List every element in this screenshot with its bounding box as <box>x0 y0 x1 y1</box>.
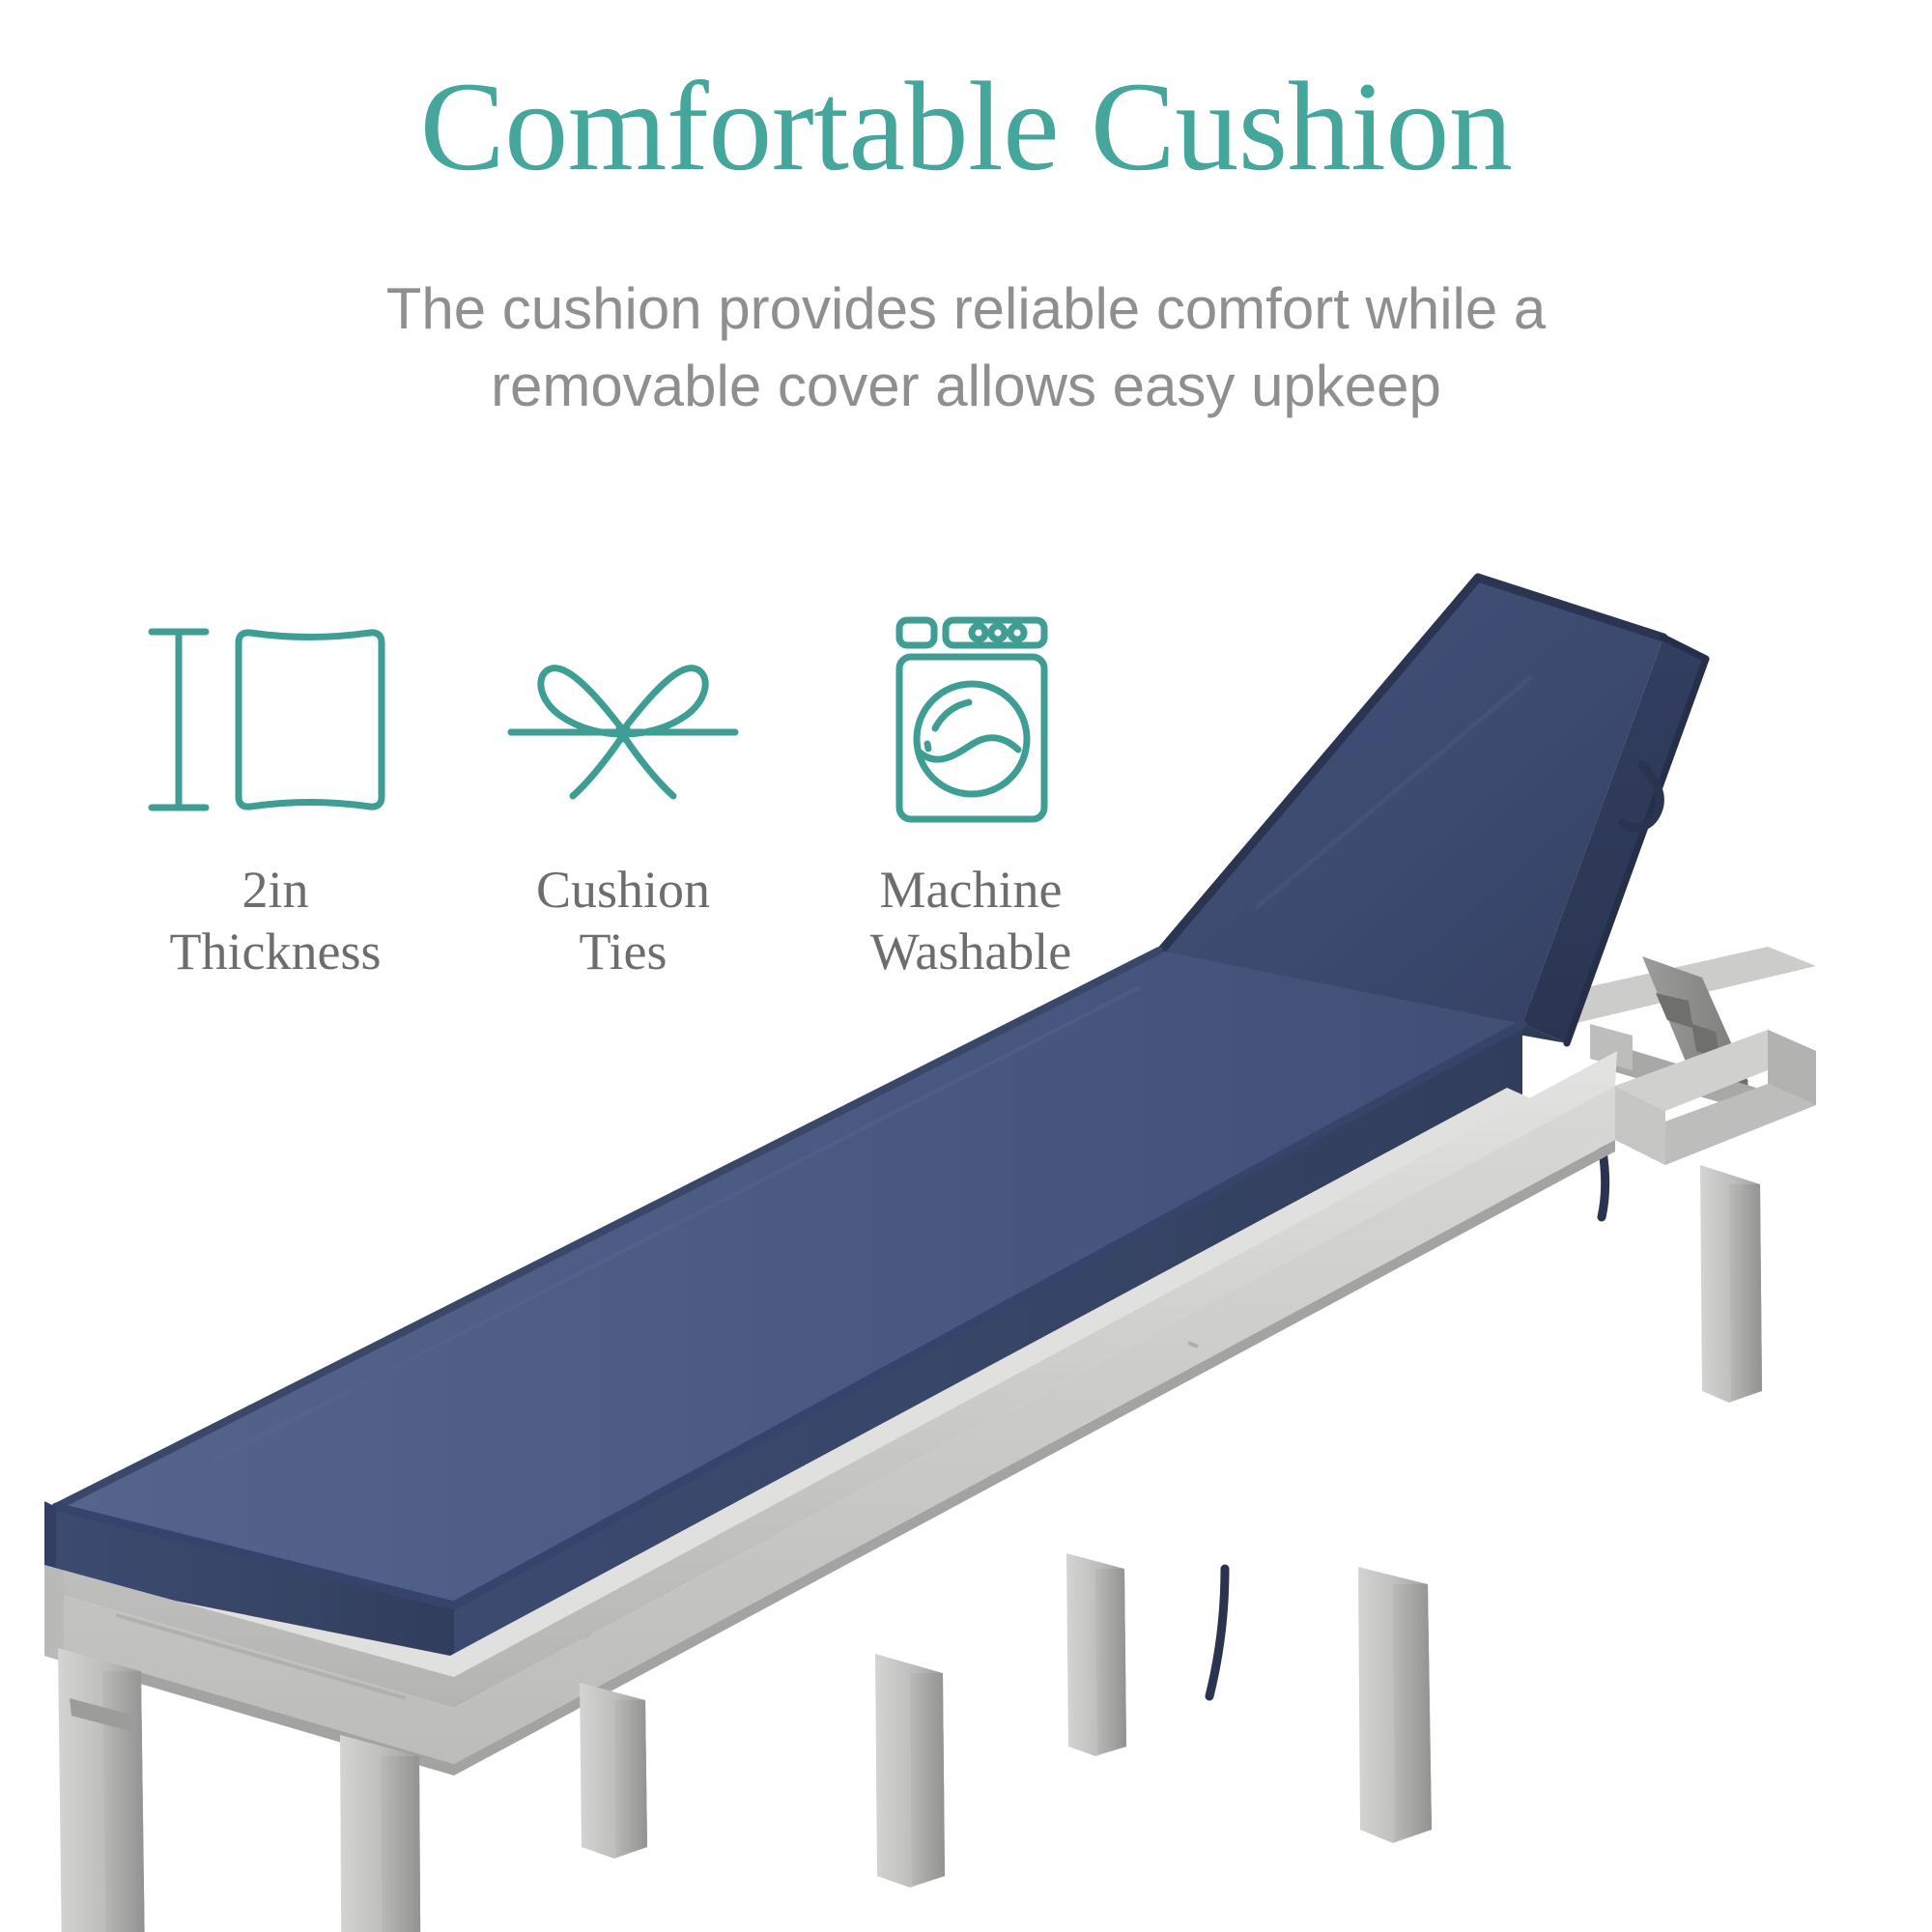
product-feature-image: Comfortable Cushion The cushion provides… <box>0 0 1932 1932</box>
subtitle-line-2: removable cover allows easy upkeep <box>290 348 1642 425</box>
page-subtitle: The cushion provides reliable comfort wh… <box>290 270 1642 425</box>
page-title: Comfortable Cushion <box>0 60 1932 194</box>
product-photo-chaise-lounge <box>0 541 1932 1932</box>
subtitle-line-1: The cushion provides reliable comfort wh… <box>290 270 1642 348</box>
